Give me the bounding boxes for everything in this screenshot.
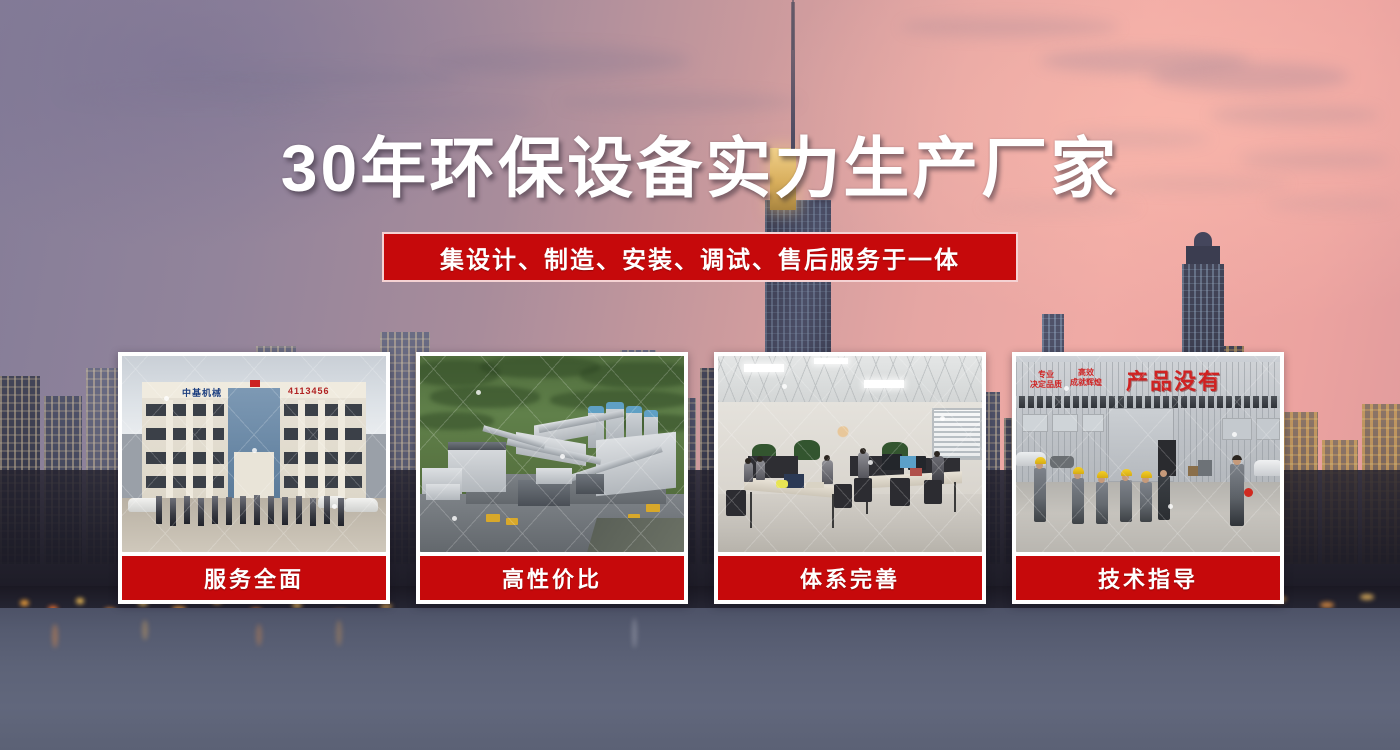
feature-card[interactable]: 产品没有 专业 决定品质 高效 成就辉煌: [1012, 352, 1284, 604]
factory-sign-text: 产品没有: [1126, 364, 1222, 396]
watermark-dot: [560, 454, 565, 459]
watermark-dot: [332, 504, 337, 509]
watermark-dot: [868, 460, 873, 465]
feature-card[interactable]: 体系完善: [714, 352, 986, 604]
feature-card[interactable]: 中基机械 4113456: [118, 352, 390, 604]
card-caption: 高性价比: [420, 556, 684, 600]
feature-card[interactable]: 高性价比: [416, 352, 688, 604]
hero-banner: 30年环保设备实力生产厂家 集设计、制造、安装、调试、售后服务于一体 中基机械 …: [0, 0, 1400, 750]
factory-slogan-1b: 决定品质: [1030, 380, 1062, 389]
wall-decal: [830, 418, 856, 440]
building-sign-text: 中基机械: [182, 386, 222, 399]
workshop-workers-photo: 产品没有 专业 决定品质 高效 成就辉煌: [1016, 356, 1280, 552]
watermark-dot: [940, 416, 945, 421]
card-caption: 体系完善: [718, 556, 982, 600]
watermark-dot: [476, 390, 481, 395]
watermark-dot: [452, 516, 457, 521]
building-phone-text: 4113456: [288, 386, 330, 396]
factory-slogan-1: 专业: [1038, 370, 1054, 379]
watermark-dot: [782, 384, 787, 389]
watermark-dot: [164, 396, 169, 401]
feature-card-list: 中基机械 4113456: [118, 352, 1284, 604]
watermark-dot: [252, 448, 257, 453]
watermark-dot: [1232, 432, 1237, 437]
water-sheen: [0, 608, 1400, 750]
factory-slogan-2b: 成就辉煌: [1070, 378, 1102, 387]
tower-antenna: [792, 0, 794, 50]
factory-slogan-2: 高效: [1078, 368, 1094, 377]
company-headquarters-photo: 中基机械 4113456: [122, 356, 386, 552]
watermark-dot: [1168, 504, 1173, 509]
card-caption: 服务全面: [122, 556, 386, 600]
card-caption: 技术指导: [1016, 556, 1280, 600]
page-title: 30年环保设备实力生产厂家: [0, 130, 1400, 206]
office-interior-photo: [718, 356, 982, 552]
aerial-production-plant-photo: [420, 356, 684, 552]
subtitle-text: 集设计、制造、安装、调试、售后服务于一体: [440, 240, 960, 275]
watermark-dot: [1064, 386, 1069, 391]
subtitle-banner: 集设计、制造、安装、调试、售后服务于一体: [382, 232, 1018, 282]
